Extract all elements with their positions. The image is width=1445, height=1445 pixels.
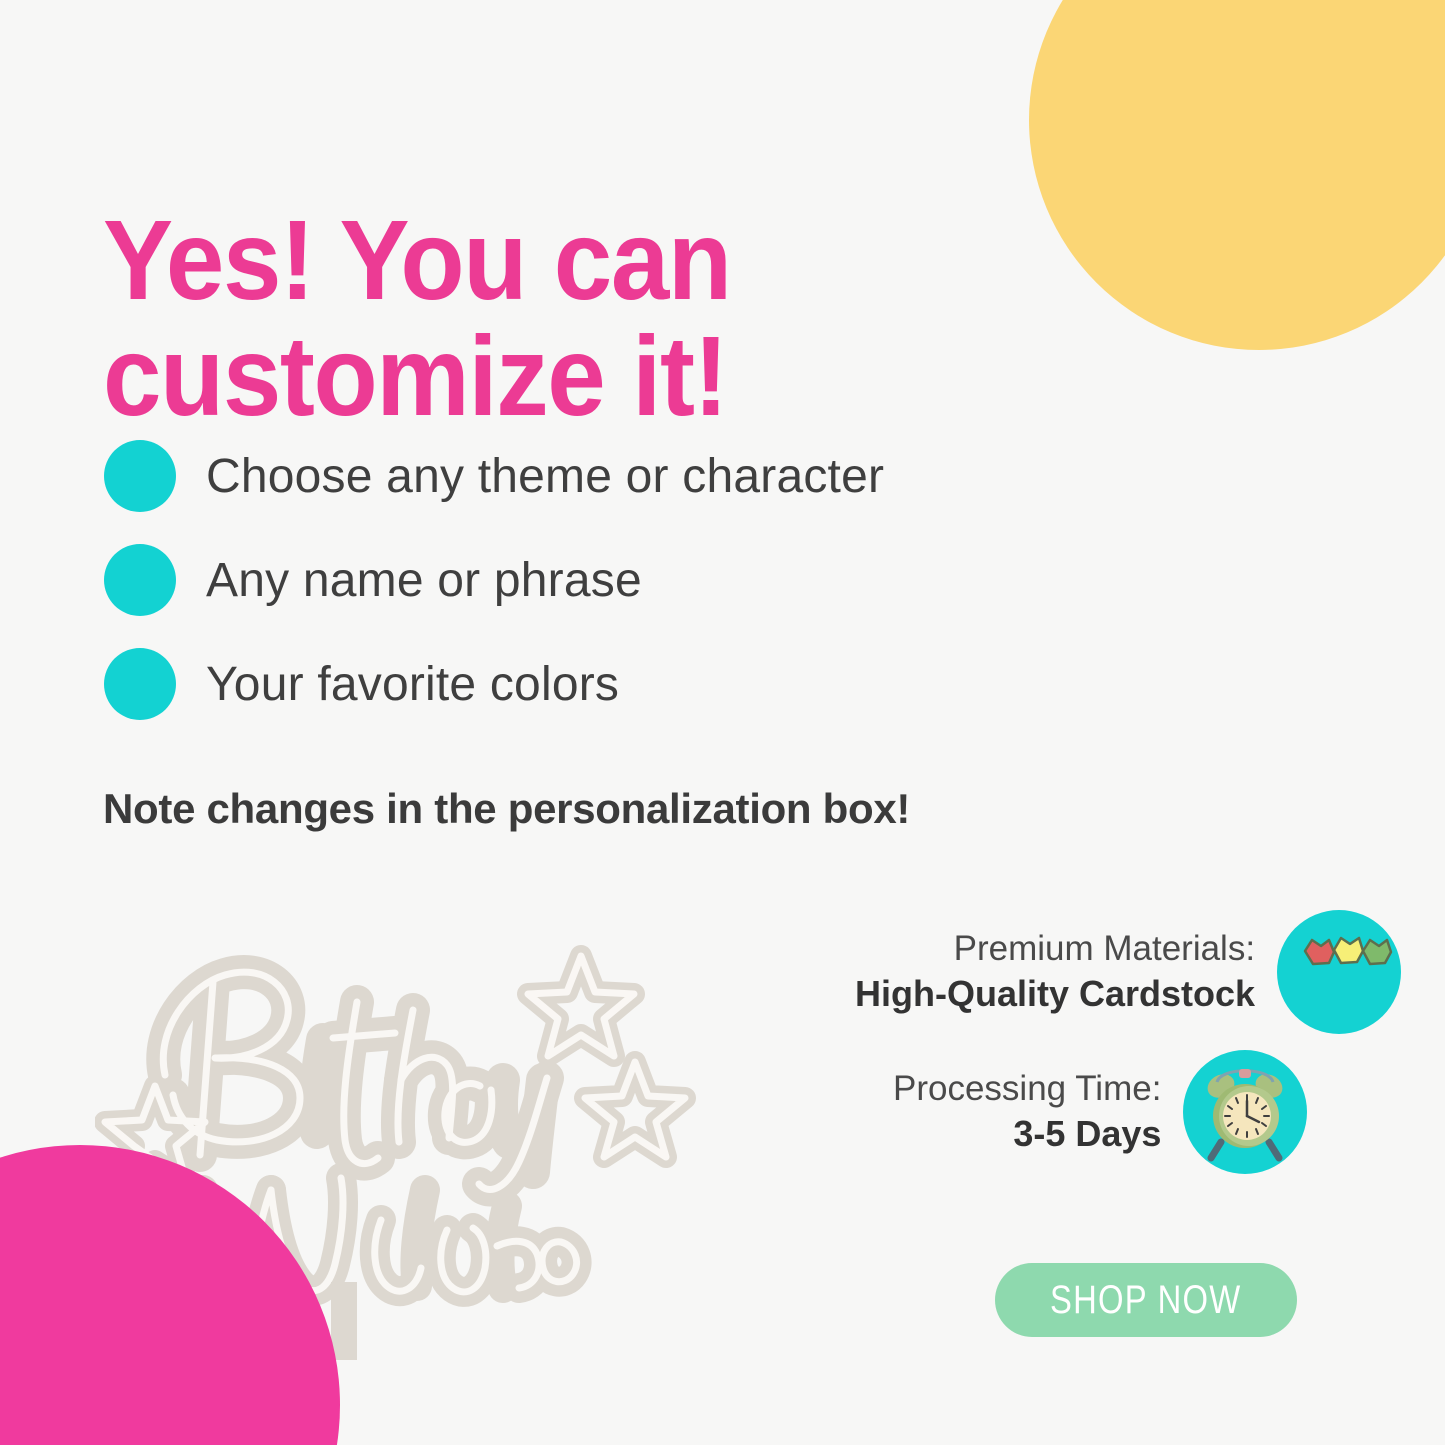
feature-bullet-list: Choose any theme or character Any name o… <box>104 440 884 752</box>
shop-now-button[interactable]: SHOP NOW <box>995 1263 1297 1337</box>
bullet-label: Any name or phrase <box>206 553 642 608</box>
shop-now-label: SHOP NOW <box>1050 1278 1241 1323</box>
bullet-label: Choose any theme or character <box>206 449 884 504</box>
pink-circle-decoration <box>0 1145 340 1445</box>
feature-text-block: Premium Materials: High-Quality Cardstoc… <box>855 927 1255 1018</box>
feature-title: Processing Time: <box>893 1067 1161 1112</box>
feature-processing-time: Processing Time: 3-5 Days <box>893 1050 1307 1174</box>
three-stars-icon <box>1277 910 1401 1034</box>
feature-value: 3-5 Days <box>893 1111 1161 1157</box>
personalization-note: Note changes in the personalization box! <box>103 785 910 833</box>
feature-title: Premium Materials: <box>855 927 1255 972</box>
alarm-clock-icon <box>1183 1050 1307 1174</box>
list-item: Choose any theme or character <box>104 440 884 512</box>
yellow-circle-decoration <box>1029 0 1445 350</box>
feature-value: High-Quality Cardstock <box>855 971 1255 1017</box>
bullet-dot-icon <box>104 440 176 512</box>
feature-premium-materials: Premium Materials: High-Quality Cardstoc… <box>855 910 1401 1034</box>
bullet-label: Your favorite colors <box>206 657 619 712</box>
list-item: Your favorite colors <box>104 648 884 720</box>
list-item: Any name or phrase <box>104 544 884 616</box>
page-title: Yes! You can customize it! <box>103 202 866 435</box>
bullet-dot-icon <box>104 544 176 616</box>
bullet-dot-icon <box>104 648 176 720</box>
feature-text-block: Processing Time: 3-5 Days <box>893 1067 1161 1158</box>
promo-graphic: Yes! You can customize it! Choose any th… <box>0 0 1445 1445</box>
